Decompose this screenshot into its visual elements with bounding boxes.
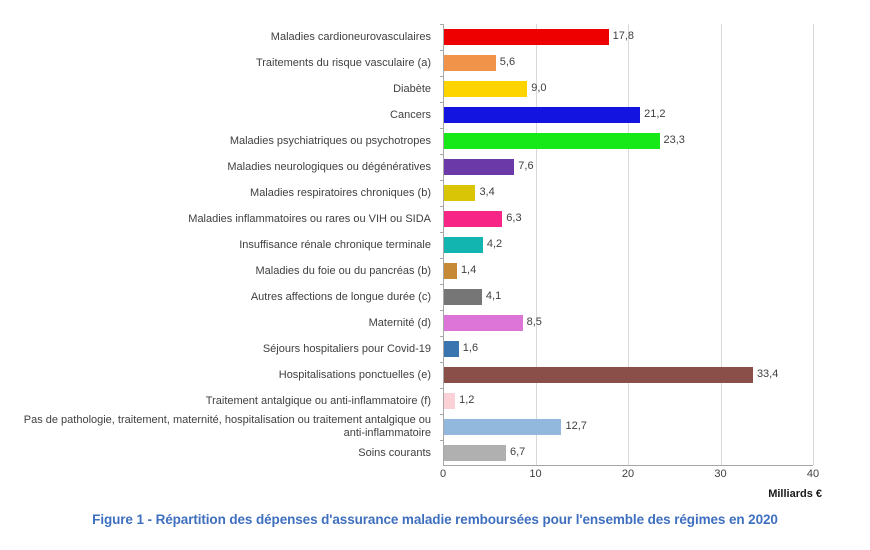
axis-tick — [440, 284, 444, 285]
bar[interactable] — [444, 289, 482, 305]
bar-row: 4,2 — [444, 232, 813, 259]
bar[interactable] — [444, 55, 496, 71]
bar-row: 21,2 — [444, 102, 813, 129]
bar[interactable] — [444, 211, 502, 227]
figure-caption: Figure 1 - Répartition des dépenses d'as… — [0, 512, 870, 527]
axis-tick — [440, 310, 444, 311]
axis-tick — [440, 258, 444, 259]
bar-row: 33,4 — [444, 362, 813, 389]
axis-tick — [440, 128, 444, 129]
bar-value-label: 7,6 — [518, 158, 533, 174]
axis-tick — [440, 102, 444, 103]
bar[interactable] — [444, 445, 506, 461]
category-label: Maladies inflammatoires ou rares ou VIH … — [1, 213, 431, 226]
bar-row: 17,8 — [444, 24, 813, 51]
bar-value-label: 1,2 — [459, 392, 474, 408]
plot-area: 17,85,69,021,223,37,63,46,34,21,44,18,51… — [443, 24, 813, 466]
bar-row: 3,4 — [444, 180, 813, 207]
axis-tick — [440, 388, 444, 389]
bar-value-label: 1,4 — [461, 262, 476, 278]
bar[interactable] — [444, 263, 457, 279]
category-label: Maternité (d) — [1, 317, 431, 330]
axis-tick — [440, 50, 444, 51]
axis-tick — [440, 440, 444, 441]
bar-value-label: 1,6 — [463, 340, 478, 356]
bar-value-label: 6,3 — [506, 210, 521, 226]
category-label: Traitements du risque vasculaire (a) — [1, 57, 431, 70]
category-label: Maladies neurologiques ou dégénératives — [1, 161, 431, 174]
category-label: Autres affections de longue durée (c) — [1, 291, 431, 304]
bar-value-label: 3,4 — [479, 184, 494, 200]
x-axis-tick-labels: 010203040 — [443, 468, 823, 488]
bar[interactable] — [444, 81, 527, 97]
x-tick-label: 30 — [714, 468, 726, 480]
category-label: Pas de pathologie, traitement, maternité… — [1, 414, 431, 440]
category-label: Maladies respiratoires chroniques (b) — [1, 187, 431, 200]
x-tick-label: 10 — [529, 468, 541, 480]
bar[interactable] — [444, 367, 753, 383]
bar-value-label: 9,0 — [531, 80, 546, 96]
category-label: Cancers — [1, 109, 431, 122]
bar[interactable] — [444, 315, 523, 331]
x-tick-label: 20 — [622, 468, 634, 480]
bar-value-label: 5,6 — [500, 54, 515, 70]
bar-value-label: 4,1 — [486, 288, 501, 304]
x-axis-title: Milliards € — [0, 488, 822, 500]
bar[interactable] — [444, 29, 609, 45]
bar-value-label: 23,3 — [664, 132, 685, 148]
bar-value-label: 12,7 — [565, 418, 586, 434]
bar-row: 6,7 — [444, 440, 813, 467]
axis-tick — [440, 232, 444, 233]
bar-row: 6,3 — [444, 206, 813, 233]
category-label: Soins courants — [1, 447, 431, 460]
category-label: Maladies psychiatriques ou psychotropes — [1, 135, 431, 148]
bar-chart: 17,85,69,021,223,37,63,46,34,21,44,18,51… — [0, 10, 870, 460]
bar-row: 1,2 — [444, 388, 813, 415]
bar[interactable] — [444, 159, 514, 175]
category-label: Traitement antalgique ou anti-inflammato… — [1, 395, 431, 408]
bar-row: 5,6 — [444, 50, 813, 77]
bar-row: 4,1 — [444, 284, 813, 311]
bar-value-label: 33,4 — [757, 366, 778, 382]
category-label: Maladies cardioneurovasculaires — [1, 31, 431, 44]
axis-tick — [440, 24, 444, 25]
bar-row: 23,3 — [444, 128, 813, 155]
category-label: Hospitalisations ponctuelles (e) — [1, 369, 431, 382]
bar[interactable] — [444, 237, 483, 253]
gridline — [813, 24, 814, 465]
bar-row: 1,4 — [444, 258, 813, 285]
axis-tick — [440, 336, 444, 337]
axis-tick — [440, 362, 444, 363]
bar-value-label: 21,2 — [644, 106, 665, 122]
category-label: Insuffisance rénale chronique terminale — [1, 239, 431, 252]
bar[interactable] — [444, 393, 455, 409]
x-tick-label: 40 — [807, 468, 819, 480]
bar[interactable] — [444, 419, 561, 435]
bar-rows: 17,85,69,021,223,37,63,46,34,21,44,18,51… — [444, 24, 813, 465]
bar-value-label: 6,7 — [510, 444, 525, 460]
bar-value-label: 4,2 — [487, 236, 502, 252]
bar[interactable] — [444, 133, 660, 149]
bar[interactable] — [444, 341, 459, 357]
figure-container: 17,85,69,021,223,37,63,46,34,21,44,18,51… — [0, 0, 870, 550]
bar-row: 9,0 — [444, 76, 813, 103]
bar-row: 1,6 — [444, 336, 813, 363]
bar-value-label: 17,8 — [613, 28, 634, 44]
x-tick-label: 0 — [440, 468, 446, 480]
bar[interactable] — [444, 107, 640, 123]
category-label: Diabète — [1, 83, 431, 96]
bar[interactable] — [444, 185, 475, 201]
bar-row: 12,7 — [444, 414, 813, 441]
axis-tick — [440, 76, 444, 77]
bar-row: 8,5 — [444, 310, 813, 337]
bar-value-label: 8,5 — [527, 314, 542, 330]
axis-tick — [440, 180, 444, 181]
category-label: Séjours hospitaliers pour Covid-19 — [1, 343, 431, 356]
axis-tick — [440, 154, 444, 155]
category-axis-labels: Maladies cardioneurovasculairesTraitemen… — [0, 24, 437, 466]
category-label: Maladies du foie ou du pancréas (b) — [1, 265, 431, 278]
axis-tick — [440, 206, 444, 207]
bar-row: 7,6 — [444, 154, 813, 181]
axis-tick — [440, 414, 444, 415]
